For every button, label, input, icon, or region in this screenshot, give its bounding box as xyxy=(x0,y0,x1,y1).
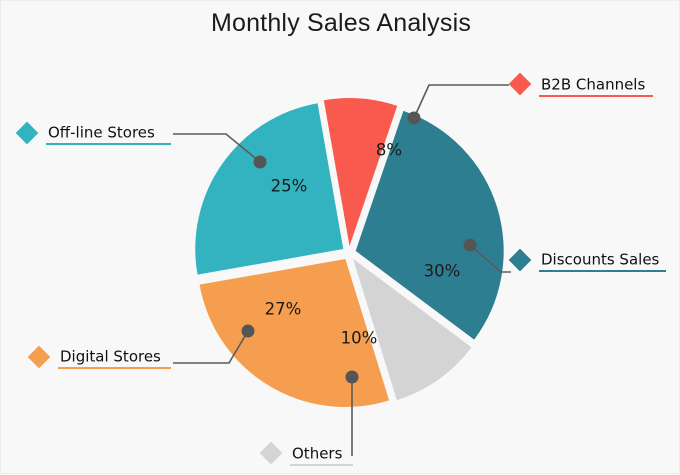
pie-chart-canvas: 30% 25% 27% 10% 8% xyxy=(1,1,680,475)
leader-dot-off-line-stores xyxy=(254,156,267,169)
slice-value-off-line-stores: 25% xyxy=(271,177,308,196)
legend-item-off-line-stores[interactable]: Off-line Stores xyxy=(16,122,171,145)
legend-diamond-icon-others xyxy=(260,442,283,465)
legend-label-discounts-sales: Discounts Sales xyxy=(541,251,660,269)
legend-label-digital-stores: Digital Stores xyxy=(60,348,161,366)
slice-value-others: 10% xyxy=(341,329,378,348)
legend-item-others[interactable]: Others xyxy=(260,442,353,465)
legend-item-b2b-channels[interactable]: B2B Channels xyxy=(509,73,653,96)
legend-label-others: Others xyxy=(292,445,343,463)
legend-label-off-line-stores: Off-line Stores xyxy=(48,124,155,142)
legend-diamond-icon-off-line-stores xyxy=(16,122,39,145)
legend-diamond-icon-b2b-channels xyxy=(509,73,532,96)
legend-item-discounts-sales[interactable]: Discounts Sales xyxy=(509,249,666,272)
pie-chart-figure: Monthly Sales Analysis 30% 25% xyxy=(0,0,680,474)
leader-b2b-channels xyxy=(408,85,510,125)
slice-value-digital-stores: 27% xyxy=(265,300,302,319)
slice-value-b2b-channels: 8% xyxy=(376,141,402,160)
leader-dot-discounts-sales xyxy=(464,239,477,252)
leader-dot-others xyxy=(346,371,359,384)
slice-value-discounts-sales: 30% xyxy=(424,262,461,281)
leader-dot-digital-stores xyxy=(242,325,255,338)
pie-slice-off-line-stores[interactable] xyxy=(195,103,343,274)
legend-diamond-icon-discounts-sales xyxy=(509,249,532,272)
legend-item-digital-stores[interactable]: Digital Stores xyxy=(28,346,171,369)
legend-diamond-icon-digital-stores xyxy=(28,346,51,369)
leader-dot-b2b-channels xyxy=(408,112,421,125)
legend-label-b2b-channels: B2B Channels xyxy=(541,76,645,94)
leader-line-b2b-channels xyxy=(414,85,509,118)
